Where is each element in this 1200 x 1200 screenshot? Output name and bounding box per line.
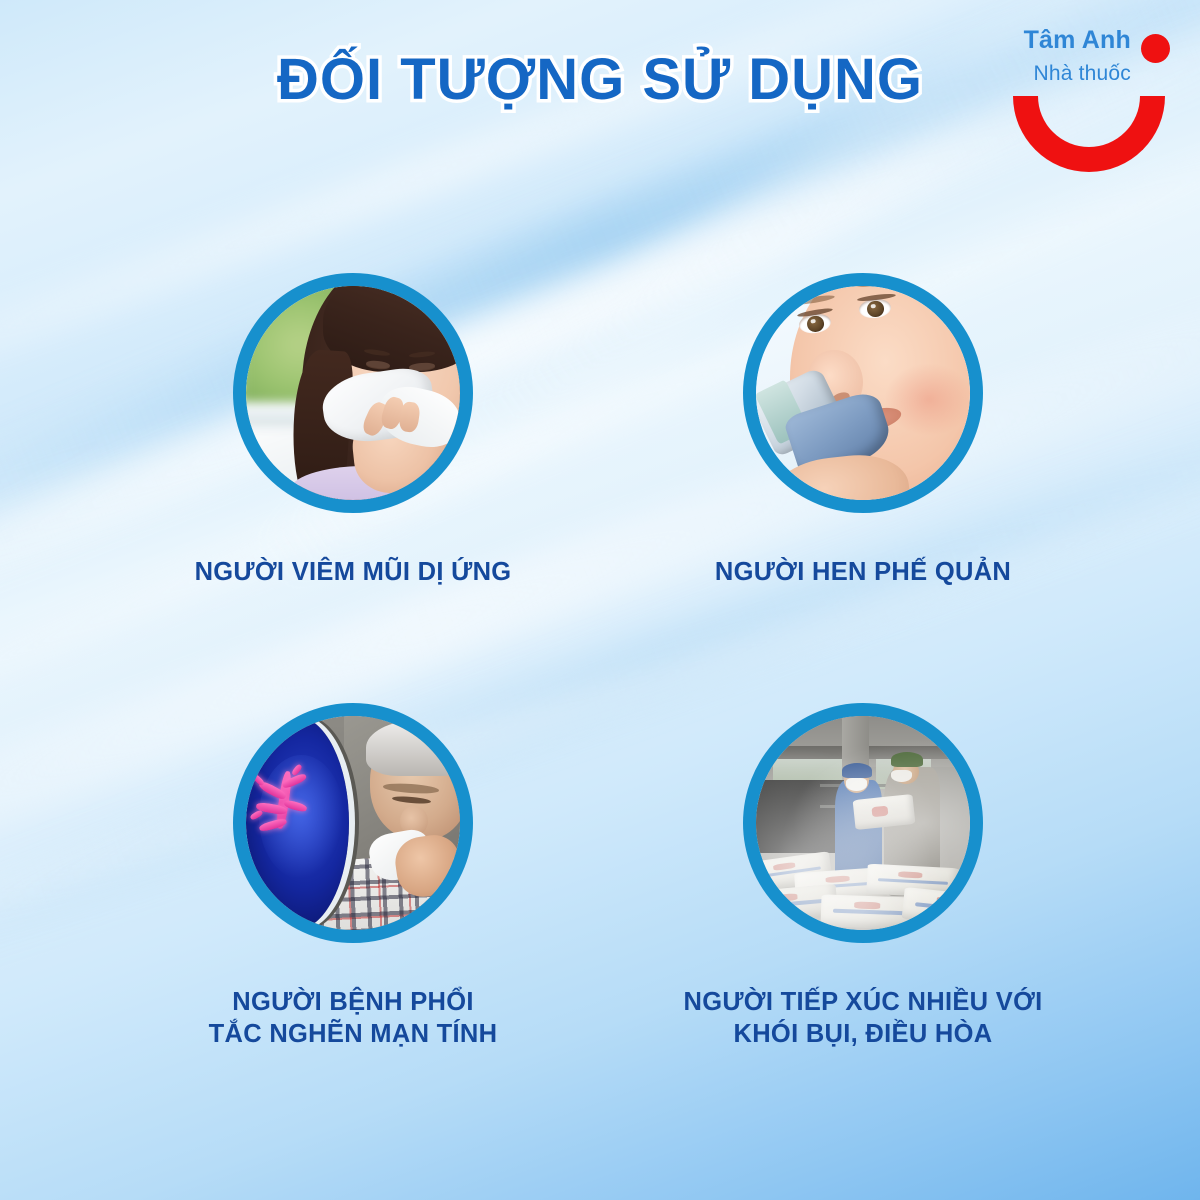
girl-sneezing-tissue-photo <box>246 286 460 500</box>
audience-caption: NGƯỜI HEN PHẾ QUẢN <box>663 557 1063 589</box>
background-streak-tint <box>0 317 1200 1018</box>
audience-caption: NGƯỜI VIÊM MŨI DỊ ỨNG <box>133 557 573 589</box>
poster-canvas: ĐỐI TƯỢNG SỬ DỤNG Tâm Anh Nhà thuốc <box>0 0 1200 1200</box>
photo-ring <box>743 703 983 943</box>
child-using-inhaler-photo <box>756 286 970 500</box>
photo-ring <box>233 703 473 943</box>
audience-item-khoi-bui-dieu-hoa: NGƯỜI TIẾP XÚC NHIỀU VỚI KHÓI BỤI, ĐIỀU … <box>743 703 983 943</box>
caption-line-1: NGƯỜI BỆNH PHỔI <box>148 987 558 1019</box>
brand-name: Tâm Anh <box>1003 26 1131 55</box>
brand-logo: Tâm Anh Nhà thuốc <box>1003 18 1178 168</box>
audience-item-hen-phe-quan: NGƯỜI HEN PHẾ QUẢN <box>743 273 983 513</box>
photo-ring <box>743 273 983 513</box>
red-smile-arc-icon <box>1013 96 1165 172</box>
audience-item-benh-phoi-tac-nghen: NGƯỜI BỆNH PHỔI TẮC NGHẼN MẠN TÍNH <box>233 703 473 943</box>
elderly-man-coughing-lungs-photo <box>246 716 460 930</box>
audience-caption: NGƯỜI TIẾP XÚC NHIỀU VỚI KHÓI BỤI, ĐIỀU … <box>608 987 1118 1050</box>
photo-ring <box>233 273 473 513</box>
background-streak <box>0 75 1200 815</box>
caption-line-2: TẮC NGHẼN MẠN TÍNH <box>148 1019 558 1051</box>
audience-item-viem-mui-di-ung: NGƯỜI VIÊM MŨI DỊ ỨNG <box>233 273 473 513</box>
background-streak <box>0 376 1200 1061</box>
audience-caption: NGƯỜI BỆNH PHỔI TẮC NGHẼN MẠN TÍNH <box>148 987 558 1050</box>
caption-line-1: NGƯỜI VIÊM MŨI DỊ ỨNG <box>133 557 573 589</box>
caption-line-1: NGƯỜI TIẾP XÚC NHIỀU VỚI <box>608 987 1118 1019</box>
brand-subtitle: Nhà thuốc <box>1003 62 1131 86</box>
workers-cement-dust-photo <box>756 716 970 930</box>
background-streak <box>0 220 1200 970</box>
caption-line-2: KHÓI BỤI, ĐIỀU HÒA <box>608 1019 1118 1051</box>
caption-line-1: NGƯỜI HEN PHẾ QUẢN <box>663 557 1063 589</box>
red-dot-icon <box>1141 34 1170 63</box>
